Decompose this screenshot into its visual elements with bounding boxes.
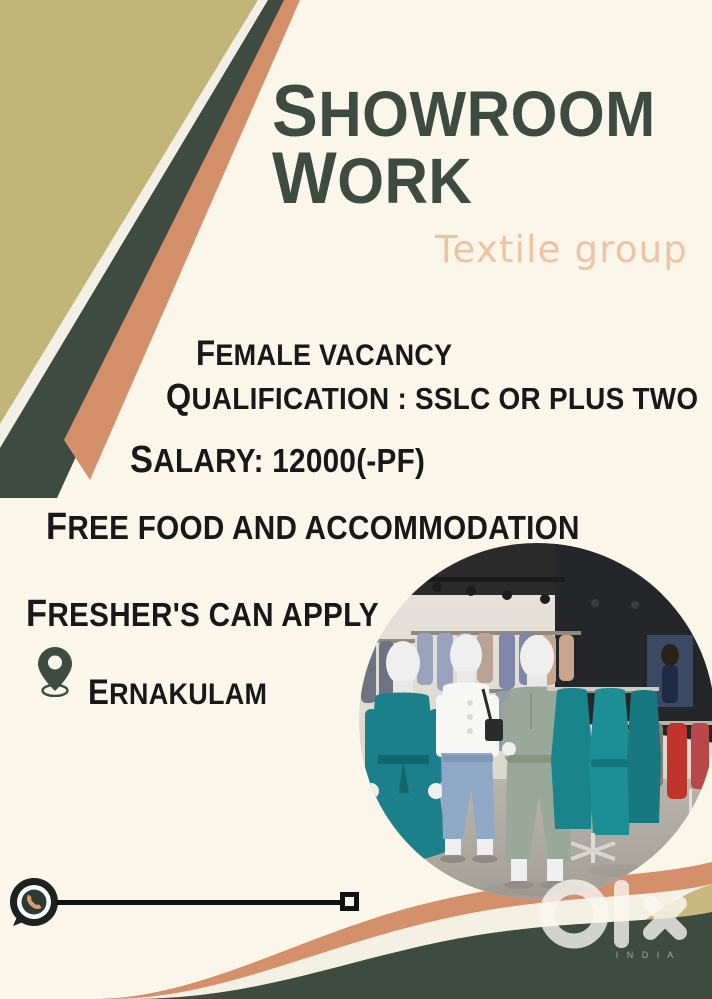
phone-icon[interactable] bbox=[8, 876, 60, 928]
job-poster: Showroom Work Textile group Female vacan… bbox=[0, 0, 712, 999]
phone-number-redaction-bar bbox=[56, 900, 346, 905]
poster-headline: Showroom Work Textile group bbox=[272, 78, 692, 271]
detail-salary: Salary: 12000(-PF) bbox=[130, 438, 425, 482]
page-title-line-1: Showroom bbox=[272, 78, 667, 145]
detail-location: Ernakulam bbox=[88, 673, 267, 713]
detail-qualification: Qualification : SSLC or plus two bbox=[166, 376, 698, 418]
contact-row[interactable] bbox=[8, 876, 358, 928]
company-subtitle: Textile group bbox=[272, 228, 692, 271]
location-pin-icon bbox=[33, 645, 77, 697]
phone-number-endcap bbox=[340, 892, 359, 911]
page-title-line-2: Work bbox=[272, 145, 667, 212]
detail-experience: Fresher's can apply bbox=[26, 592, 379, 636]
detail-vacancy: Female vacancy bbox=[196, 334, 452, 374]
detail-benefits: Free food and accommodation bbox=[46, 505, 580, 549]
showroom-photo-illustration bbox=[359, 543, 712, 899]
showroom-photo bbox=[359, 543, 712, 899]
